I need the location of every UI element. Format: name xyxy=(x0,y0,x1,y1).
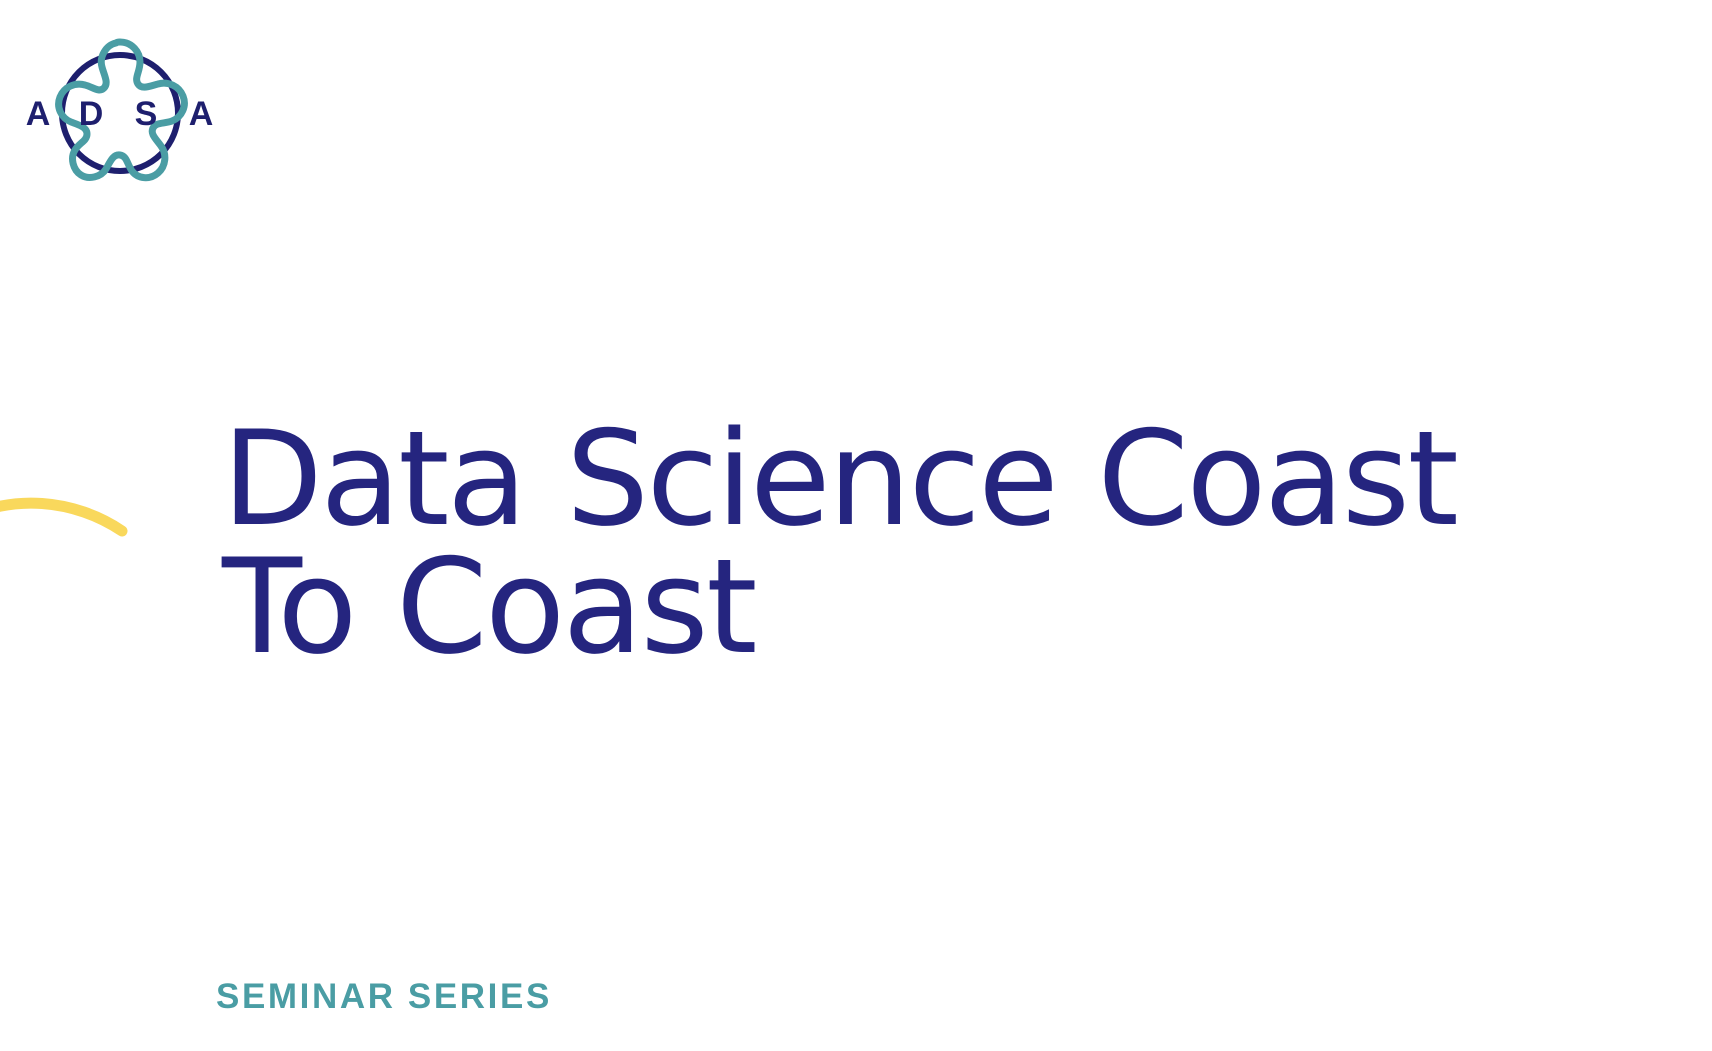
logo-letter-a1: A xyxy=(26,95,51,133)
slide-canvas: A D S A Data Science Coast To Coast SEMI… xyxy=(0,0,1712,1051)
logo-letter-d: D xyxy=(79,95,104,133)
logo-letter-a2: A xyxy=(189,95,214,133)
title-container: Data Science Coast To Coast xyxy=(222,415,1542,671)
yellow-arc-icon xyxy=(0,503,122,531)
page-title: Data Science Coast To Coast xyxy=(222,415,1542,671)
kicker-container: SEMINAR SERIES xyxy=(216,978,552,1016)
logo-wave-ring-icon xyxy=(59,42,185,178)
seminar-series-label: SEMINAR SERIES xyxy=(216,978,552,1016)
yellow-swoosh-decoration xyxy=(0,455,170,565)
adsa-logo: A D S A xyxy=(20,28,220,198)
logo-letter-s: S xyxy=(135,95,158,133)
